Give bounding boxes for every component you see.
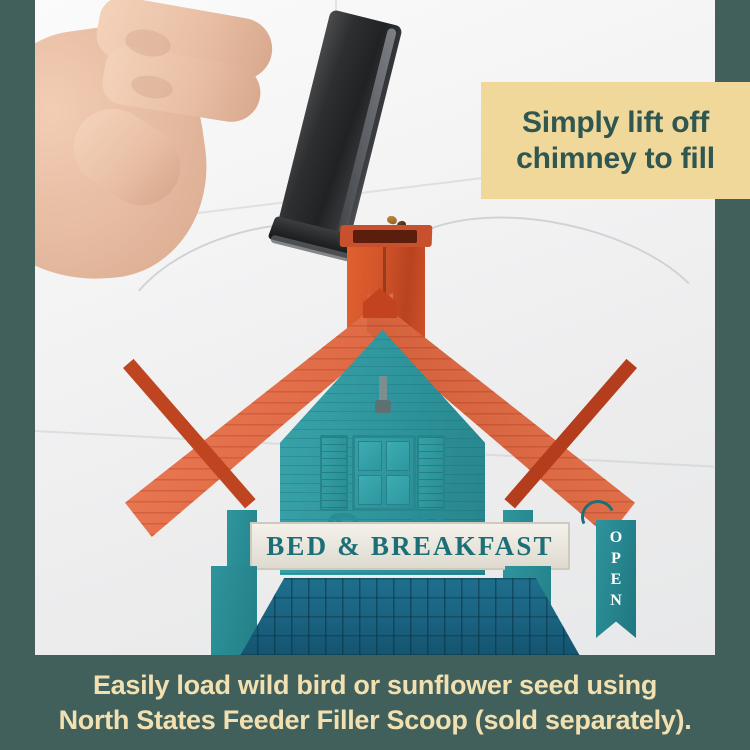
sign-label: BED & BREAKFAST <box>266 531 554 562</box>
window-pane <box>358 475 382 505</box>
gable-vent <box>379 376 387 402</box>
hand-icon <box>35 0 275 320</box>
window-pane <box>358 441 382 471</box>
callout-line-2: chimney to fill <box>516 141 715 176</box>
callout-line-1: Simply lift off <box>522 105 709 140</box>
seed-scoop-icon <box>275 9 402 250</box>
image-frame: BED & BREAKFAST O P E N Simply lift off … <box>0 0 750 750</box>
roof-ridge <box>363 288 397 318</box>
window-pane <box>386 475 410 505</box>
shutter-right <box>417 435 445 511</box>
bed-and-breakfast-sign: BED & BREAKFAST <box>250 522 570 570</box>
window-pane <box>386 441 410 471</box>
open-banner: O P E N <box>596 520 636 638</box>
caption-line-2: North States Feeder Filler Scoop (sold s… <box>59 703 692 737</box>
window-icon <box>352 435 416 511</box>
porch-shingle-roof <box>240 578 580 655</box>
caption-line-1: Easily load wild bird or sunflower seed … <box>93 668 657 702</box>
open-letter-n: N <box>610 593 622 609</box>
chimney-opening <box>353 230 417 243</box>
callout-box: Simply lift off chimney to fill <box>481 82 750 199</box>
open-letter-o: O <box>610 530 622 546</box>
shutter-left <box>320 435 348 511</box>
open-letter-e: E <box>611 572 622 588</box>
open-letter-p: P <box>611 551 621 567</box>
caption-bar: Easily load wild bird or sunflower seed … <box>0 655 750 750</box>
